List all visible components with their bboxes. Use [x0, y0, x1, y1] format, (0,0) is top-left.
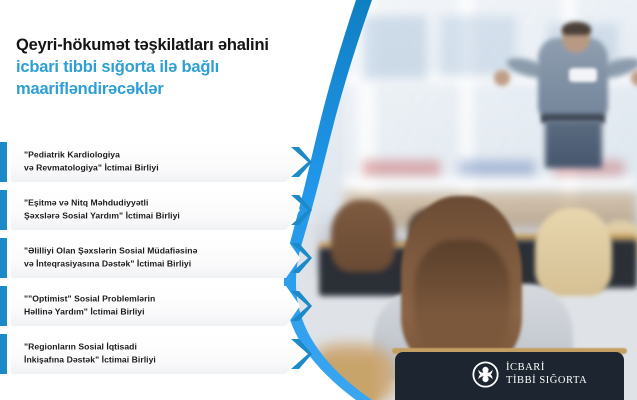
- item-label: ""Optimist" Sosial Problemlərin Həllinə …: [24, 293, 155, 320]
- list-item[interactable]: "Əlilliyi Olan Şəxslərin Sosial Müdafiəs…: [0, 238, 300, 278]
- chevron-right-icon: [288, 145, 314, 179]
- headline-line-2: icbari tibbi sığorta ilə bağlı: [16, 56, 346, 78]
- speaker-legs: [545, 120, 602, 168]
- banner-root: Qeyri-hökumət təşkilatları əhalini icbar…: [0, 0, 637, 400]
- headline-line-3: maarifləndirəcəklər: [16, 78, 346, 100]
- foreground-hair-strands: [414, 240, 510, 360]
- chevron-right-icon: [288, 193, 314, 227]
- chevron-right-icon: [288, 241, 314, 275]
- item-accent-bar: [0, 286, 7, 326]
- list-item[interactable]: ""Optimist" Sosial Problemlərin Həllinə …: [0, 286, 300, 326]
- brand-line-1: İCBARİ: [506, 362, 587, 374]
- headline-line-1: Qeyri-hökumət təşkilatları əhalini: [16, 34, 346, 56]
- icbari-tibbi-sigorta-icon: [472, 361, 499, 388]
- wall-poster: [440, 16, 516, 76]
- chevron-right-icon: [288, 289, 314, 323]
- speaker-left-hand: [494, 70, 511, 86]
- window-mullion: [344, 176, 637, 190]
- list-item[interactable]: "Pediatrik Kardiologiya və Revmatologiya…: [0, 142, 300, 182]
- headline: Qeyri-hökumət təşkilatları əhalini icbar…: [16, 34, 346, 100]
- item-label: "Pediatrik Kardiologiya və Revmatologiya…: [24, 149, 159, 176]
- brand-logo-text: İCBARİ TİBBİ SIĞORTA: [506, 362, 587, 387]
- item-accent-bar: [0, 334, 7, 374]
- wall-stripe: [459, 160, 535, 176]
- speaker-badge: [569, 68, 598, 82]
- item-label: "Əlilliyi Olan Şəxslərin Sosial Müdafiəs…: [24, 245, 197, 272]
- chevron-right-icon: [288, 337, 314, 371]
- item-label: "Eşitmə və Nitq Məhdudiyyətli Şəxslərə S…: [24, 197, 180, 224]
- ngo-list: "Pediatrik Kardiologiya və Revmatologiya…: [0, 142, 300, 382]
- item-label: "Regionların Sosial İqtisadi İnkişafına …: [24, 341, 156, 368]
- brand-line-2: TİBBİ SIĞORTA: [506, 375, 587, 387]
- list-item[interactable]: "Regionların Sosial İqtisadi İnkişafına …: [0, 334, 300, 374]
- wall-stripe: [363, 160, 439, 176]
- wall-poster: [363, 16, 427, 80]
- list-item[interactable]: "Eşitmə və Nitq Məhdudiyyətli Şəxslərə S…: [0, 190, 300, 230]
- audience-head: [331, 200, 395, 272]
- item-accent-bar: [0, 142, 7, 182]
- audience-head-blonde: [535, 208, 611, 296]
- brand-logo: İCBARİ TİBBİ SIĞORTA: [472, 361, 587, 388]
- item-accent-bar: [0, 238, 7, 278]
- speaker-hair: [562, 22, 591, 36]
- item-accent-bar: [0, 190, 7, 230]
